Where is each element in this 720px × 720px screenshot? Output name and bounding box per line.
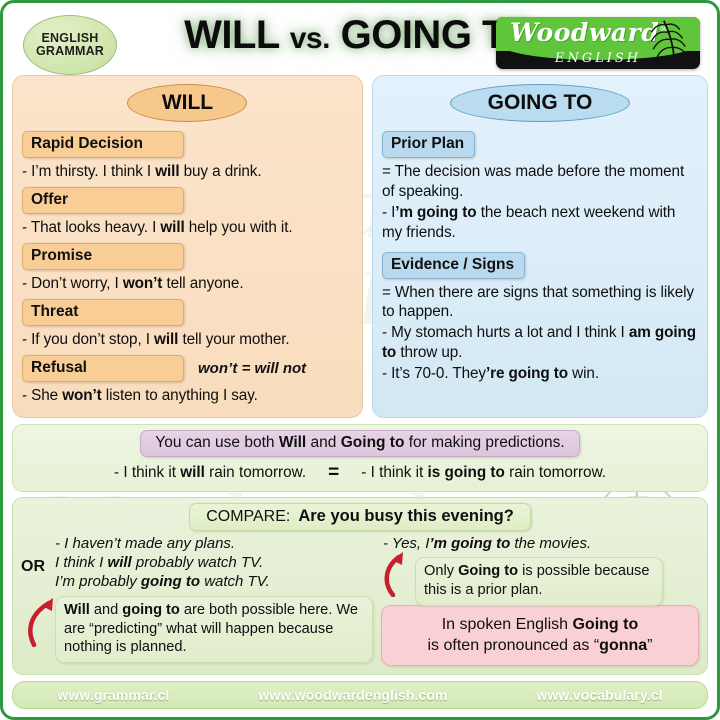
compare-left-column: OR - I haven’t made any plans. I think I… <box>21 535 373 663</box>
going-to-item: Evidence / Signs = When there are signs … <box>382 250 698 384</box>
will-heading: WILL <box>127 84 247 122</box>
or-label: OR <box>21 558 45 576</box>
going-to-item-example-2: - It’s 70-0. They’re going to win. <box>382 364 698 384</box>
will-item: Rapid Decision - I’m thirsty. I think I … <box>22 129 353 182</box>
will-item: Refusal won’t = will not - She won’t lis… <box>22 353 353 406</box>
going-to-item: Prior Plan = The decision was made befor… <box>382 129 698 243</box>
will-item-example: - I’m thirsty. I think I will buy a drin… <box>22 162 353 182</box>
footer-link-woodwardenglish[interactable]: www.woodwardenglish.com <box>258 687 447 703</box>
going-to-item-example: - My stomach hurts a lot and I think I a… <box>382 323 698 363</box>
compare-label: COMPARE: <box>206 508 290 525</box>
title-left: WILL <box>184 13 279 57</box>
will-item-tag-row: Refusal won’t = will not <box>22 353 353 385</box>
will-item-example: - Don’t worry, I won’t tell anyone. <box>22 274 353 294</box>
will-item-example: - If you don’t stop, I will tell your mo… <box>22 330 353 350</box>
going-to-item-tag: Evidence / Signs <box>382 252 525 279</box>
equals-sign: = <box>328 462 339 484</box>
predictions-banner: You can use both Will and Going to for m… <box>140 430 579 457</box>
going-to-item-definition: = When there are signs that something is… <box>382 283 698 323</box>
compare-left-line: - I haven’t made any plans. <box>55 535 373 554</box>
will-item-tag: Threat <box>22 299 184 326</box>
will-item-tag: Promise <box>22 243 184 270</box>
compare-body: OR - I haven’t made any plans. I think I… <box>21 535 699 663</box>
predictions-section: You can use both Will and Going to for m… <box>12 424 708 492</box>
title-vs: vs. <box>290 22 330 55</box>
compare-right-note: Only Going to is possible because this i… <box>415 557 663 605</box>
compare-right-column: - Yes, I’m going to the movies. Only Goi… <box>373 535 699 663</box>
infographic-poster: Woodward ENGLISH Woodward ENGLISH ENGLIS… <box>0 0 720 720</box>
fern-icon <box>644 18 698 68</box>
going-to-panel: GOING TO Prior Plan = The decision was m… <box>372 75 708 418</box>
footer-link-grammar[interactable]: www.grammar.cl <box>57 687 169 703</box>
footer-links-bar: www.grammar.cl www.woodwardenglish.com w… <box>12 681 708 709</box>
poster-header: ENGLISH GRAMMAR WILL vs. GOING TO Woodwa… <box>12 11 708 73</box>
will-item-example: - She won’t listen to anything I say. <box>22 386 353 406</box>
footer-link-vocabulary[interactable]: www.vocabulary.cl <box>536 687 662 703</box>
logo-word-text: Woodward <box>510 18 659 47</box>
going-to-item-definition: = The decision was made before the momen… <box>382 162 698 202</box>
will-item: Promise - Don’t worry, I won’t tell anyo… <box>22 241 353 294</box>
compare-left-note: Will and going to are both possible here… <box>55 596 373 663</box>
compare-question: Are you busy this evening? <box>298 507 513 525</box>
compare-section: COMPARE:Are you busy this evening? OR - … <box>12 497 708 675</box>
comparison-columns: WILL Rapid Decision - I’m thirsty. I thi… <box>12 75 708 418</box>
going-to-item-example: - I’m going to the beach next weekend wi… <box>382 203 698 243</box>
will-item-tag: Refusal <box>22 355 184 382</box>
predictions-row: - I think it will rain tomorrow. = - I t… <box>21 462 699 484</box>
compare-left-line: I’m probably going to watch TV. <box>55 573 373 592</box>
woodward-english-logo[interactable]: Woodward® ENGLISH <box>496 17 700 69</box>
prediction-will-example: - I think it will rain tomorrow. <box>114 464 306 482</box>
will-item-tag: Offer <box>22 187 184 214</box>
curved-arrow-icon <box>381 549 413 597</box>
compare-left-line: I think I will probably watch TV. <box>55 554 373 573</box>
curved-arrow-icon <box>25 587 59 647</box>
will-panel: WILL Rapid Decision - I’m thirsty. I thi… <box>12 75 363 418</box>
prediction-going-to-example: - I think it is going to rain tomorrow. <box>361 464 606 482</box>
will-item: Offer - That looks heavy. I will help yo… <box>22 185 353 238</box>
going-to-heading: GOING TO <box>450 84 630 122</box>
wont-equals-note: won’t = will not <box>198 360 306 377</box>
will-item-tag: Rapid Decision <box>22 131 184 158</box>
will-item-example: - That looks heavy. I will help you with… <box>22 218 353 238</box>
compare-banner: COMPARE:Are you busy this evening? <box>189 503 531 531</box>
will-item: Threat - If you don’t stop, I will tell … <box>22 297 353 350</box>
compare-right-line: - Yes, I’m going to the movies. <box>383 535 699 554</box>
going-to-item-tag: Prior Plan <box>382 131 475 158</box>
